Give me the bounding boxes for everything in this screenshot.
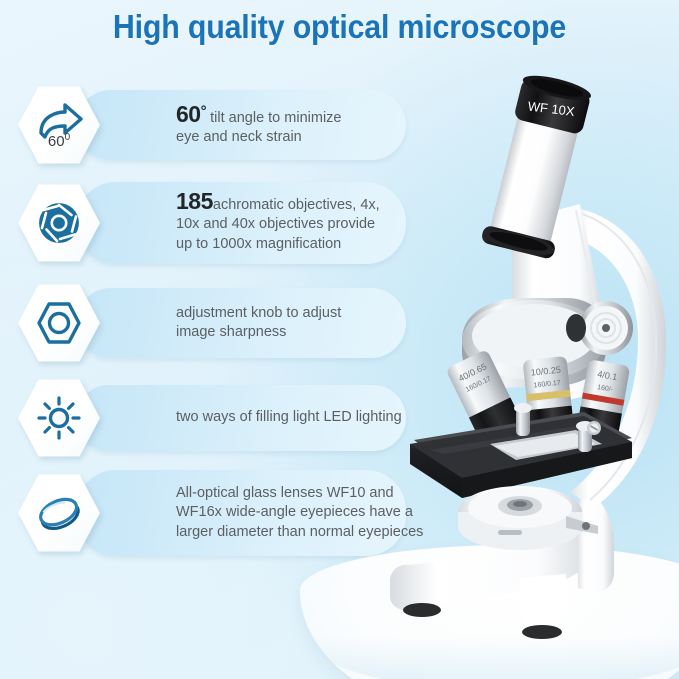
feature-text-line3: up to 1000x magnification xyxy=(176,236,341,252)
feature-icon-hexagon xyxy=(18,182,100,264)
feature-text-line2: 10x and 40x objectives provide xyxy=(176,216,375,232)
feature-row-objectives: 185achromatic objectives, 4x, 10x and 40… xyxy=(18,182,428,264)
feature-row-adjustment-knob: adjustment knob to adjust image sharpnes… xyxy=(18,282,426,364)
feature-icon-hexagon xyxy=(18,472,100,554)
feature-row-led-lighting: two ways of filling light LED lighting xyxy=(18,377,428,459)
sun-brightness-icon xyxy=(31,390,87,446)
aperture-icon xyxy=(31,195,87,251)
feature-text: two ways of filling light LED lighting xyxy=(176,408,428,428)
feature-text-line2: eye and neck strain xyxy=(176,129,302,145)
feature-text-line2: WF16x wide-angle eyepieces have a xyxy=(176,504,413,520)
feature-text-line1: achromatic objectives, 4x, xyxy=(213,197,380,213)
feature-text-line1: All-optical glass lenses WF10 and xyxy=(176,485,394,501)
feature-text-line1: two ways of filling light LED lighting xyxy=(176,409,402,425)
feature-icon-hexagon: 600 xyxy=(18,84,100,166)
feature-row-eyepieces: All-optical glass lenses WF10 and WF16x … xyxy=(18,472,434,554)
feature-text-line2: image sharpness xyxy=(176,324,286,340)
feature-text: 60° tilt angle to minimize eye and neck … xyxy=(176,102,426,148)
feature-row-tilt-angle: 600 60° tilt angle to minimize eye and n… xyxy=(18,84,426,166)
feature-text: adjustment knob to adjust image sharpnes… xyxy=(176,304,426,343)
feature-icon-hexagon xyxy=(18,282,100,364)
feature-lead-number: 60 xyxy=(176,101,201,127)
feature-text-line3: larger diameter than normal eyepieces xyxy=(176,524,423,540)
feature-lead-number: 185 xyxy=(176,188,213,214)
feature-text: 185achromatic objectives, 4x, 10x and 40… xyxy=(176,192,428,255)
infographic-canvas: High quality optical microscope 600 60° … xyxy=(0,0,679,679)
feature-text-line1: adjustment knob to adjust xyxy=(176,305,341,321)
feature-text-line1: tilt angle to minimize xyxy=(206,110,341,126)
feature-text: All-optical glass lenses WF10 and WF16x … xyxy=(176,484,434,543)
feature-icon-hexagon xyxy=(18,377,100,459)
lens-ellipse-icon xyxy=(31,485,87,541)
knob-hexagon-icon xyxy=(31,295,87,351)
tilt-angle-badge: 600 xyxy=(18,132,100,150)
